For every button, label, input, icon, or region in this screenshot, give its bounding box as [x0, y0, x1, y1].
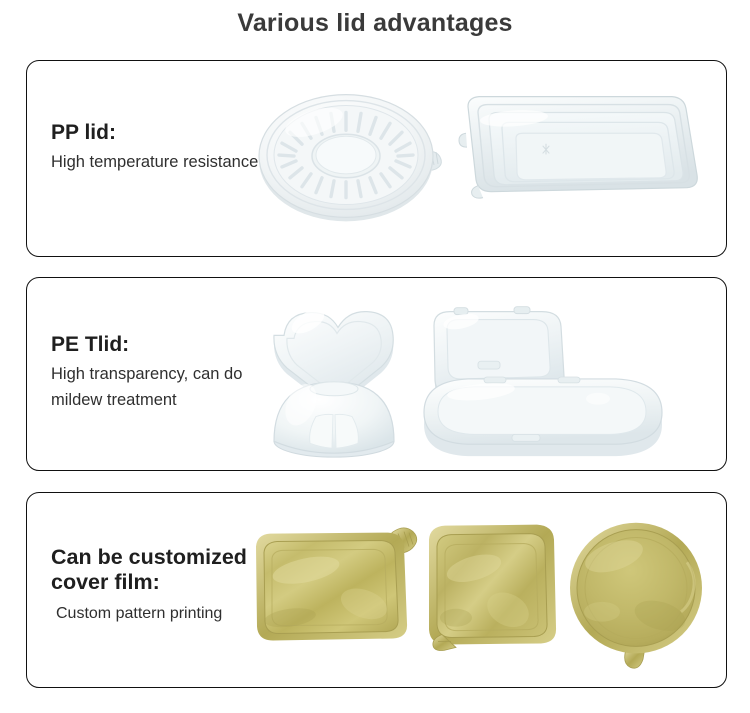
card-pe-lid-description: High transparency, can do mildew treatme…: [51, 361, 242, 414]
card-cover-film-heading: Can be customized cover film:: [51, 545, 247, 595]
gold-rectangular-film-image: [256, 528, 417, 641]
card-cover-film-text: Can be customized cover film: Custom pat…: [51, 545, 247, 627]
card-cover-film-description: Custom pattern printing: [51, 601, 247, 627]
card-cover-film-images: [246, 493, 726, 687]
card-pp-lid-heading: PP lid:: [51, 121, 258, 146]
card-pp-lid-images: [246, 61, 726, 256]
card-cover-film: Can be customized cover film: Custom pat…: [26, 492, 727, 688]
gold-square-film-image: [429, 525, 556, 651]
card-pe-lid-images: [246, 278, 726, 470]
card-pe-lid-text: PE Tlid: High transparency, can do milde…: [51, 333, 242, 414]
card-pp-lid: PP lid: High temperature resistance: [26, 60, 727, 257]
gold-round-film-image: [570, 523, 702, 669]
card-pe-lid-heading: PE Tlid:: [51, 333, 242, 358]
infographic-page: Various lid advantages PP lid: High temp…: [0, 0, 750, 713]
round-pp-lid-image: [259, 95, 441, 222]
card-pp-lid-text: PP lid: High temperature resistance: [51, 121, 258, 175]
dome-cup-lid-image: [274, 379, 394, 457]
oval-flat-lid-image: [424, 377, 662, 456]
card-pe-lid: PE Tlid: High transparency, can do milde…: [26, 277, 727, 471]
card-pp-lid-description: High temperature resistance: [51, 149, 258, 176]
rectangular-pp-lid-image: [459, 97, 697, 199]
page-title: Various lid advantages: [0, 9, 750, 38]
